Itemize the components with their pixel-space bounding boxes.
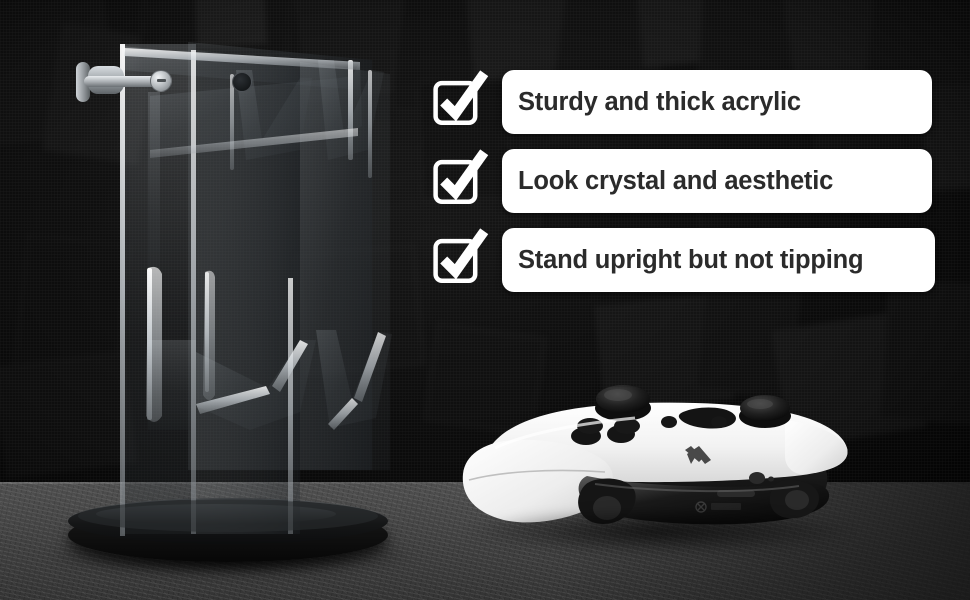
feature-item: Look crystal and aesthetic	[432, 149, 932, 213]
feature-label: Sturdy and thick acrylic	[518, 88, 801, 117]
checkbox-checked-icon	[432, 154, 486, 208]
stand-bolt-secondary	[232, 72, 252, 92]
feature-label: Stand upright but not tipping	[518, 246, 863, 275]
checkbox-checked-icon	[432, 233, 486, 287]
product-feature-banner: Sturdy and thick acrylic Look crystal an…	[0, 0, 970, 600]
feature-label: Look crystal and aesthetic	[518, 167, 833, 196]
controller-shadow	[465, 508, 855, 554]
feature-card: Stand upright but not tipping	[502, 228, 935, 292]
feature-list: Sturdy and thick acrylic Look crystal an…	[432, 70, 932, 307]
stand-acrylic-panels	[0, 0, 430, 600]
feature-item: Stand upright but not tipping	[432, 228, 932, 292]
checkbox-checked-icon	[432, 75, 486, 129]
feature-item: Sturdy and thick acrylic	[432, 70, 932, 134]
stand-bolt-slot	[157, 79, 166, 82]
xbox-controller	[455, 368, 865, 553]
acrylic-controller-stand	[0, 0, 430, 600]
feature-card: Look crystal and aesthetic	[502, 149, 932, 213]
feature-card: Sturdy and thick acrylic	[502, 70, 932, 134]
